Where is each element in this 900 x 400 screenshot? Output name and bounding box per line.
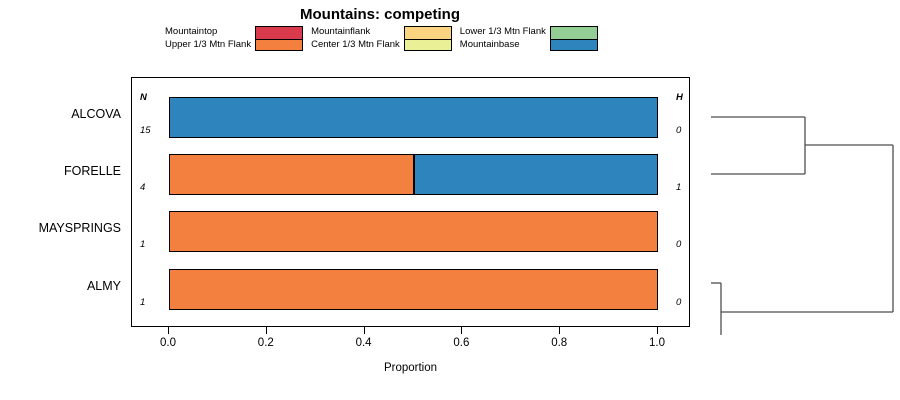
- x-axis-tick: [657, 327, 658, 334]
- n-value: 15: [140, 125, 151, 136]
- legend-labels: MountainflankCenter 1/3 Mtn Flank: [311, 26, 400, 51]
- x-axis-tick-label: 0.4: [356, 337, 372, 349]
- legend-label: Mountaintop: [165, 26, 251, 39]
- bar-segment[interactable]: [169, 154, 414, 195]
- h-value: 0: [676, 239, 681, 250]
- legend-swatch: [405, 39, 451, 51]
- n-column-header: N: [140, 92, 147, 103]
- dendrogram: [700, 70, 900, 335]
- h-column-header: H: [676, 92, 683, 103]
- legend-swatch-group: [255, 26, 303, 51]
- bar-segment[interactable]: [414, 154, 659, 195]
- legend-column: Lower 1/3 Mtn FlankMountainbase: [460, 26, 598, 51]
- legend-column: MountaintopUpper 1/3 Mtn Flank: [165, 26, 303, 51]
- y-axis-label: ALCOVA: [71, 107, 121, 121]
- h-value: 1: [676, 182, 681, 193]
- legend-label: Lower 1/3 Mtn Flank: [460, 26, 546, 39]
- legend-labels: MountaintopUpper 1/3 Mtn Flank: [165, 26, 251, 51]
- y-axis-label: MAYSPRINGS: [39, 221, 121, 235]
- legend-label: Upper 1/3 Mtn Flank: [165, 39, 251, 52]
- bar-row: [132, 211, 691, 252]
- x-axis-tick-label: 0.2: [258, 337, 274, 349]
- legend-swatch: [256, 27, 302, 39]
- x-axis-tick-label: 1.0: [649, 337, 665, 349]
- legend: MountaintopUpper 1/3 Mtn FlankMountainfl…: [165, 26, 606, 51]
- legend-swatch: [551, 27, 597, 39]
- x-axis: 0.00.20.40.60.81.0: [131, 327, 690, 335]
- legend-swatch: [256, 39, 302, 51]
- legend-label: Center 1/3 Mtn Flank: [311, 39, 400, 52]
- h-value: 0: [676, 125, 681, 136]
- plot-area: 150411010NH: [132, 78, 689, 326]
- bar-segment[interactable]: [169, 269, 658, 310]
- y-axis-labels: ALCOVAFORELLEMAYSPRINGSALMY: [0, 0, 127, 400]
- plot-panel: 150411010NH: [131, 77, 690, 327]
- bar-row: [132, 154, 691, 195]
- legend-swatch-group: [404, 26, 452, 51]
- legend-labels: Lower 1/3 Mtn FlankMountainbase: [460, 26, 546, 51]
- y-axis-label: ALMY: [87, 279, 121, 293]
- n-value: 1: [140, 297, 145, 308]
- bar-segment[interactable]: [169, 97, 658, 138]
- legend-label: Mountainbase: [460, 39, 546, 52]
- x-axis-tick-label: 0.0: [160, 337, 176, 349]
- legend-swatch: [405, 27, 451, 39]
- legend-swatch: [551, 39, 597, 51]
- legend-label: Mountainflank: [311, 26, 400, 39]
- x-axis-tick: [168, 327, 169, 334]
- h-value: 0: [676, 297, 681, 308]
- x-axis-tick-label: 0.8: [551, 337, 567, 349]
- legend-swatch-group: [550, 26, 598, 51]
- x-axis-tick: [461, 327, 462, 334]
- n-value: 1: [140, 239, 145, 250]
- legend-column: MountainflankCenter 1/3 Mtn Flank: [311, 26, 452, 51]
- dendrogram-svg: [700, 70, 900, 335]
- n-value: 4: [140, 182, 145, 193]
- x-axis-tick-label: 0.6: [453, 337, 469, 349]
- y-axis-label: FORELLE: [64, 164, 121, 178]
- bar-row: [132, 97, 691, 138]
- x-axis-tick: [559, 327, 560, 334]
- x-axis-tick: [266, 327, 267, 334]
- x-axis-title: Proportion: [131, 362, 690, 374]
- x-axis-tick: [364, 327, 365, 334]
- chart-canvas: Mountains: competing MountaintopUpper 1/…: [0, 0, 900, 400]
- bar-row: [132, 269, 691, 310]
- bar-segment[interactable]: [169, 211, 658, 252]
